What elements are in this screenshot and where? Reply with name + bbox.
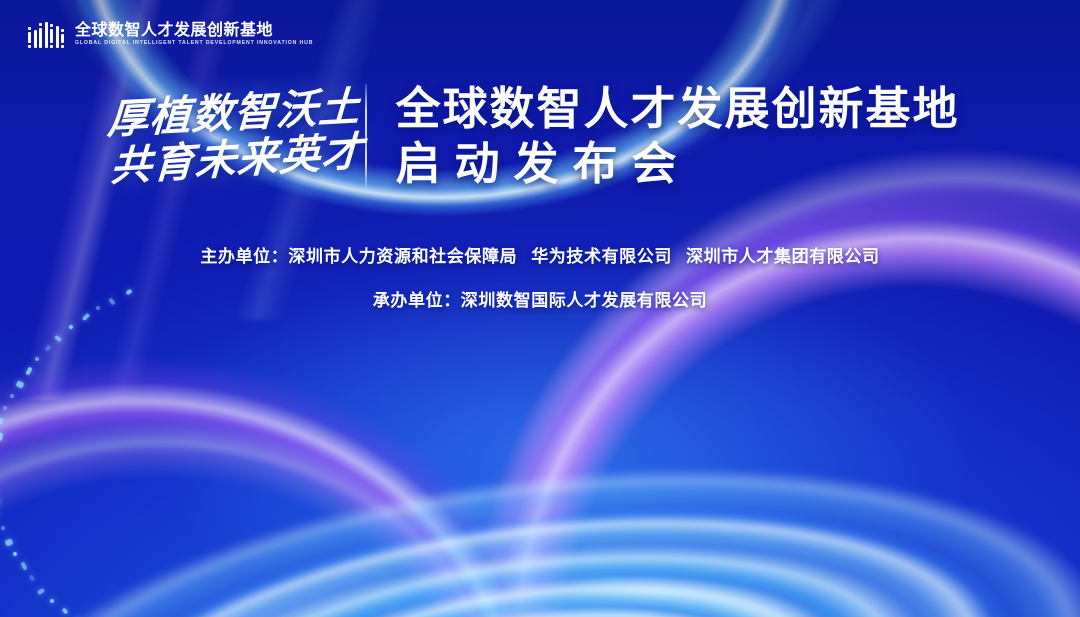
host-1: 华为技术有限公司 xyxy=(531,247,672,266)
brand-name-cn: 全球数智人才发展创新基地 xyxy=(75,23,313,39)
vortex-core-glow xyxy=(366,586,714,617)
host-2: 深圳市人才集团有限公司 xyxy=(686,247,880,266)
vortex-ring-3 xyxy=(131,503,949,617)
coordinator-organizers-line: 承办单位：深圳数智国际人才发展有限公司 xyxy=(0,292,1080,309)
vortex-swoosh-outer xyxy=(0,423,1080,617)
vortex-swoosh-mid xyxy=(74,476,1006,617)
vortex-ring-6 xyxy=(364,612,716,617)
brand-name-en: GLOBAL DIGITAL INTELLIGENT TALENT DEVELO… xyxy=(75,41,313,46)
vortex-graphic xyxy=(0,385,1080,617)
brand-logo[interactable]: 全球数智人才发展创新基地 GLOBAL DIGITAL INTELLIGENT … xyxy=(28,22,313,48)
title-block: 全球数智人才发展创新基地 启动发布会 xyxy=(395,85,959,188)
purple-arc-left-decoration xyxy=(0,285,637,617)
coordinator-0: 深圳数智国际人才发展有限公司 xyxy=(461,291,707,310)
coordinator-label: 承办单位： xyxy=(373,291,461,310)
calligraphy-slogan: 厚植数智沃土 共育未来英才 xyxy=(120,93,365,181)
vertical-divider xyxy=(365,84,367,190)
vortex-swoosh-inner xyxy=(209,539,872,617)
vortex-disc xyxy=(0,432,1080,617)
purple-arc-outer-left-decoration xyxy=(0,385,570,617)
event-poster: 全球数智人才发展创新基地 GLOBAL DIGITAL INTELLIGENT … xyxy=(0,0,1080,617)
vortex-ring-5 xyxy=(297,582,783,617)
organizer-section: 主办单位：深圳市人力资源和社会保障局华为技术有限公司深圳市人才集团有限公司 承办… xyxy=(0,248,1080,309)
page-title: 全球数智人才发展创新基地 xyxy=(395,85,959,134)
equalizer-bars-logo-mark-icon xyxy=(28,22,64,48)
purple-streak-decoration xyxy=(0,0,280,400)
page-subtitle: 启动发布会 xyxy=(395,140,959,189)
particle-dot-arc-decoration xyxy=(0,330,340,617)
host-label: 主办单位： xyxy=(200,247,288,266)
hero-section: 厚植数智沃土 共育未来英才 全球数智人才发展创新基地 启动发布会 xyxy=(0,84,1080,190)
vortex-ring-1 xyxy=(0,407,1080,617)
vortex-ring-4 xyxy=(219,544,861,617)
host-0: 深圳市人力资源和社会保障局 xyxy=(288,247,517,266)
brand-logo-text: 全球数智人才发展创新基地 GLOBAL DIGITAL INTELLIGENT … xyxy=(75,23,313,46)
vortex-ring-2 xyxy=(42,458,1037,617)
host-organizers-line: 主办单位：深圳市人力资源和社会保障局华为技术有限公司深圳市人才集团有限公司 xyxy=(0,248,1080,265)
